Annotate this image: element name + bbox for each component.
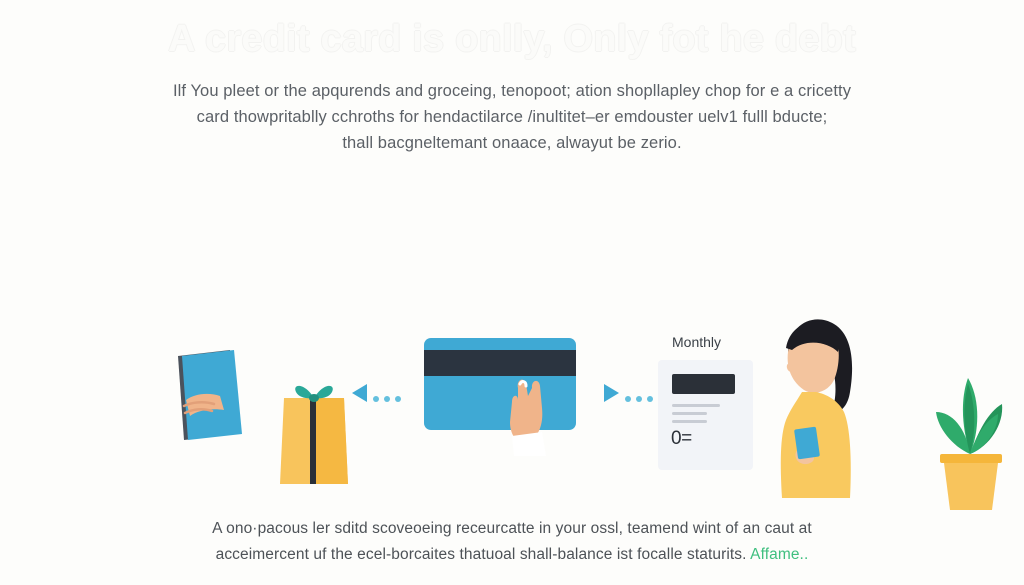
- statement-zero-balance: 0=: [671, 428, 692, 450]
- hand-card-svg: [168, 348, 260, 448]
- arrow-right-dots: [625, 389, 658, 407]
- gift-bag: [274, 378, 354, 488]
- statement-label: Monthly: [672, 334, 721, 350]
- credit-card: [424, 338, 576, 458]
- arrow-left-icon: [352, 382, 414, 404]
- top-paragraph-line-1: Ilf You pleet or the apqurends and groce…: [92, 78, 932, 104]
- bottom-paragraph-line-2: acceimercent uf the ecel-borcaites thatu…: [92, 542, 932, 568]
- credit-card-body: [424, 338, 576, 430]
- person-svg: [758, 308, 868, 498]
- bottom-paragraph-accent: Affame..: [750, 546, 808, 563]
- statement-text-line: [672, 412, 707, 415]
- woman-holding-card: [758, 308, 868, 498]
- hand-holding-blue-card: [168, 348, 260, 448]
- statement-heading-bar: [672, 374, 735, 394]
- potted-plant: [922, 362, 1020, 512]
- arrow-right-triangle: [604, 384, 619, 402]
- bottom-paragraph-line-2-main: acceimercent uf the ecel-borcaites thatu…: [216, 546, 751, 563]
- arrow-left-dots: [373, 389, 406, 407]
- arrow-left-triangle: [352, 384, 367, 402]
- bottom-paragraph: A ono·pacous ler sditd scoveoeing receur…: [92, 516, 932, 568]
- credit-card-magnetic-stripe: [424, 350, 576, 376]
- illustration-band: Monthly 0=: [0, 300, 1024, 510]
- top-paragraph: Ilf You pleet or the apqurends and groce…: [92, 78, 932, 156]
- plant-svg: [922, 362, 1020, 512]
- credit-card-hand-icon: [506, 366, 550, 456]
- statement-text-line: [672, 404, 720, 407]
- arrow-right-icon: [604, 382, 666, 404]
- top-paragraph-line-2: card thowpritablly cchroths for hendacti…: [92, 104, 932, 130]
- page-title: A credit card is onlly, Only fot he debt: [0, 18, 1024, 61]
- top-paragraph-line-3: thall bacgneltemant onaace, alwayut be z…: [92, 130, 932, 156]
- bottom-paragraph-line-1: A ono·pacous ler sditd scoveoeing receur…: [92, 516, 932, 542]
- gift-bag-svg: [274, 378, 354, 488]
- illustration-slide: A credit card is onlly, Only fot he debt…: [0, 0, 1024, 585]
- statement-card: 0=: [658, 360, 753, 470]
- statement-text-line: [672, 420, 707, 423]
